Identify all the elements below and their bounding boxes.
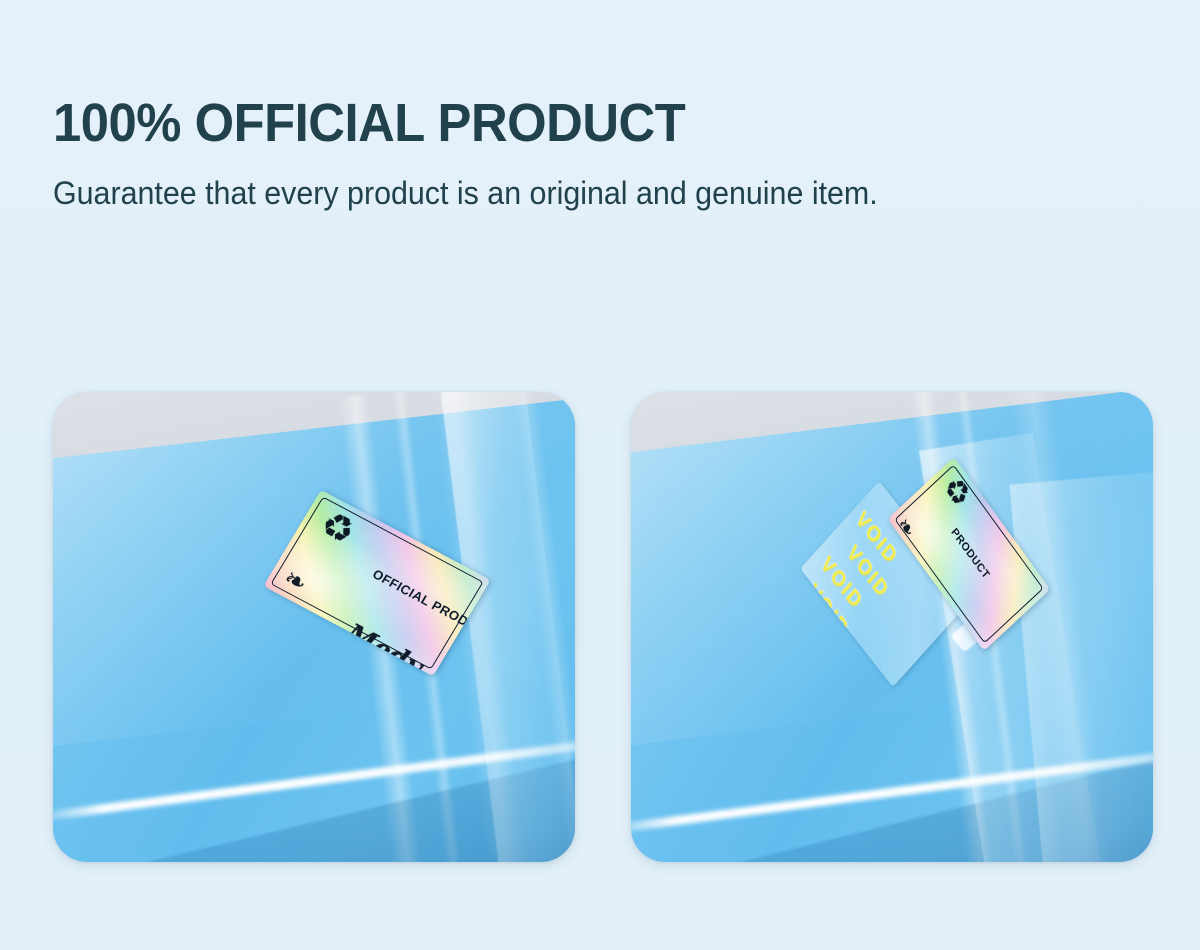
product-photo-intact-seal: ❧ ♻ Medy OFFICIAL PRODUCT bbox=[53, 392, 575, 862]
page-title: 100% OFFICIAL PRODUCT bbox=[53, 92, 1096, 154]
photo-gallery: ❧ ♻ Medy OFFICIAL PRODUCT bbox=[53, 392, 1153, 862]
photo-scene: VOID VOID VOID VOID ❧ ♻ PRODUCT bbox=[631, 392, 1153, 862]
page-subtitle: Guarantee that every product is an origi… bbox=[53, 172, 1108, 214]
promo-page: 100% OFFICIAL PRODUCT Guarantee that eve… bbox=[0, 0, 1200, 950]
product-photo-peeled-seal: VOID VOID VOID VOID ❧ ♻ PRODUCT bbox=[631, 392, 1153, 862]
photo-scene: ❧ ♻ Medy OFFICIAL PRODUCT bbox=[53, 392, 575, 862]
header-block: 100% OFFICIAL PRODUCT Guarantee that eve… bbox=[53, 92, 1163, 214]
